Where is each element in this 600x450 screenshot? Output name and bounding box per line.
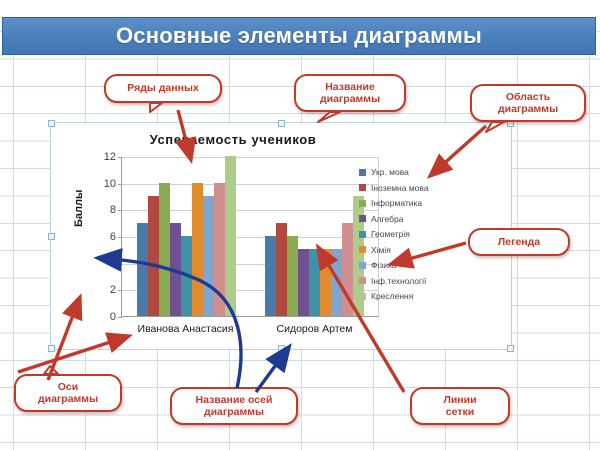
resize-handle-top-left[interactable] — [48, 120, 55, 127]
slide-title-banner: Основные элементы диаграммы — [2, 17, 596, 55]
legend-swatch-icon — [359, 262, 366, 269]
legend-item-label: Інф.технології — [371, 276, 426, 286]
legend-item[interactable]: Геометрія — [359, 229, 429, 239]
callout-chart-title[interactable]: Название диаграммы — [294, 74, 406, 112]
resize-handle-top-center[interactable] — [278, 120, 285, 127]
bar[interactable] — [170, 223, 181, 316]
callout-legend[interactable]: Легенда — [468, 228, 570, 256]
y-axis-tick-label: 2 — [110, 284, 116, 296]
bar[interactable] — [320, 249, 331, 316]
legend-item-label: Укр. мова — [371, 167, 409, 177]
legend-item[interactable]: Хімія — [359, 245, 429, 255]
legend-item-label: Інформатика — [371, 198, 422, 208]
legend-swatch-icon — [359, 200, 366, 207]
legend-item[interactable]: Інформатика — [359, 198, 429, 208]
bar[interactable] — [148, 196, 159, 316]
bar[interactable] — [331, 249, 342, 316]
legend-item[interactable]: Фізика — [359, 260, 429, 270]
y-axis-title: Баллы — [73, 190, 85, 227]
legend-item-label: Креслення — [371, 291, 413, 301]
chart-area[interactable]: Успеваемость учеников Баллы 024681012 Ив… — [50, 122, 512, 350]
callout-data-series[interactable]: Ряды данных — [104, 74, 222, 103]
legend-item[interactable]: Іноземна мова — [359, 183, 429, 193]
bar[interactable] — [298, 249, 309, 316]
bar[interactable] — [265, 236, 276, 316]
chart-legend[interactable]: Укр. моваІноземна моваІнформатикаАлгебра… — [359, 167, 429, 307]
y-axis-tick-label: 8 — [110, 204, 116, 216]
chart-title: Успеваемость учеников — [51, 132, 511, 147]
legend-item-label: Геометрія — [371, 229, 410, 239]
legend-item[interactable]: Алгебра — [359, 214, 429, 224]
slide-canvas: Основные элементы диаграммы Успеваемость… — [0, 0, 600, 450]
legend-item-label: Алгебра — [371, 214, 404, 224]
callout-gridlines[interactable]: Линии сетки — [410, 387, 510, 425]
legend-swatch-icon — [359, 231, 366, 238]
bar[interactable] — [192, 183, 203, 316]
legend-item-label: Іноземна мова — [371, 183, 429, 193]
legend-swatch-icon — [359, 293, 366, 300]
bar[interactable] — [137, 223, 148, 316]
bar[interactable] — [181, 236, 192, 316]
bar[interactable] — [287, 236, 298, 316]
bar-group — [122, 157, 251, 316]
legend-item[interactable]: Інф.технології — [359, 276, 429, 286]
legend-item[interactable]: Креслення — [359, 291, 429, 301]
plot-area: 024681012 — [121, 157, 379, 317]
y-axis-tick-mark — [118, 317, 122, 318]
y-axis-tick-label: 6 — [110, 231, 116, 243]
legend-swatch-icon — [359, 215, 366, 222]
bar[interactable] — [225, 156, 236, 316]
x-axis-category-label: Иванова Анастасия — [121, 323, 250, 335]
bar[interactable] — [276, 223, 287, 316]
bar[interactable] — [342, 223, 353, 316]
callout-chart-axes[interactable]: Оси диаграммы — [14, 374, 122, 412]
bar[interactable] — [159, 183, 170, 316]
legend-swatch-icon — [359, 169, 366, 176]
y-axis-tick-label: 10 — [104, 178, 116, 190]
resize-handle-bottom-right[interactable] — [507, 345, 514, 352]
y-axis-tick-label: 0 — [110, 311, 116, 323]
y-axis-tick-label: 12 — [104, 151, 116, 163]
legend-swatch-icon — [359, 277, 366, 284]
plot-frame: 024681012 — [121, 157, 379, 317]
y-axis-tick-label: 4 — [110, 258, 116, 270]
resize-handle-bottom-left[interactable] — [48, 345, 55, 352]
callout-chart-area[interactable]: Область диаграммы — [470, 84, 586, 122]
slide-title-text: Основные элементы диаграммы — [116, 23, 482, 49]
resize-handle-bottom-center[interactable] — [278, 345, 285, 352]
bar[interactable] — [309, 249, 320, 316]
legend-swatch-icon — [359, 246, 366, 253]
legend-item[interactable]: Укр. мова — [359, 167, 429, 177]
bar[interactable] — [214, 183, 225, 316]
legend-item-label: Хімія — [371, 245, 391, 255]
legend-swatch-icon — [359, 184, 366, 191]
legend-item-label: Фізика — [371, 260, 397, 270]
x-axis-labels: Иванова АнастасияСидоров Артем — [121, 323, 379, 335]
bar[interactable] — [203, 196, 214, 316]
bar-groups — [122, 157, 379, 316]
x-axis-category-label: Сидоров Артем — [250, 323, 379, 335]
resize-handle-middle-left[interactable] — [48, 233, 55, 240]
callout-axis-titles[interactable]: Название осей диаграммы — [170, 387, 298, 425]
